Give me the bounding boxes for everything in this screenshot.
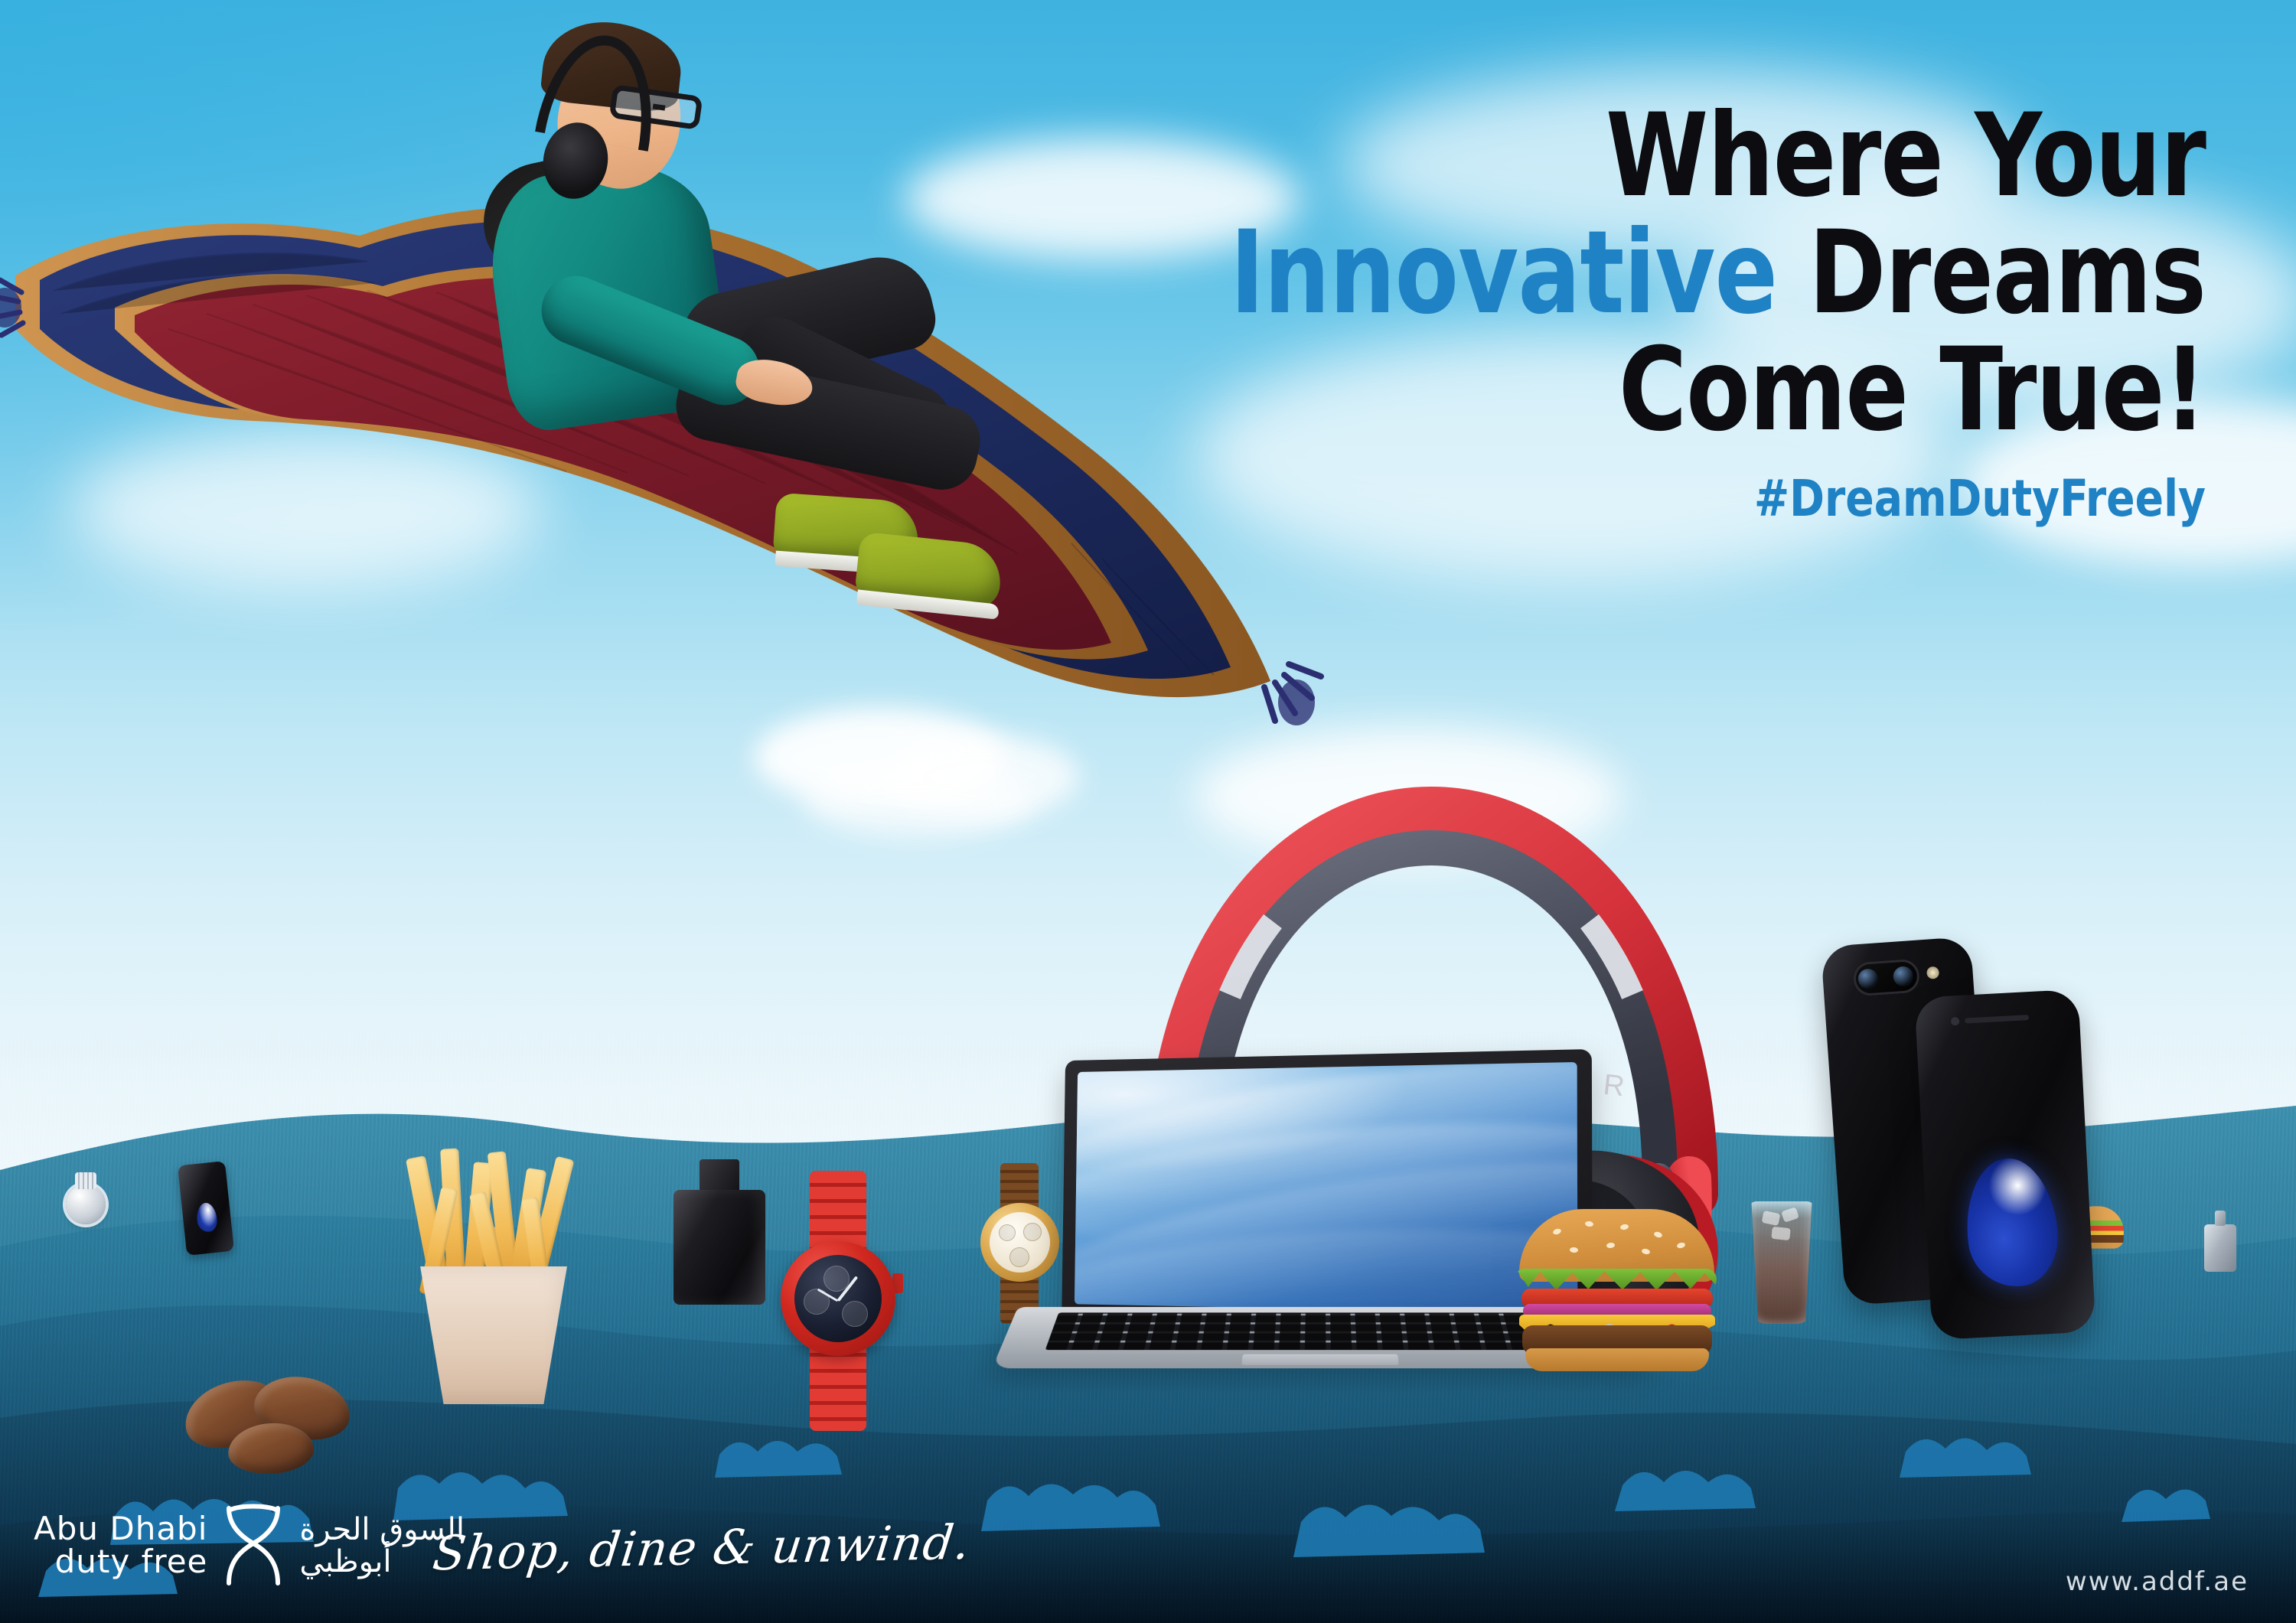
french-fries-cone: [383, 1152, 605, 1404]
carpet-tassel-left: [0, 280, 23, 335]
logo-english-line-1: Abu Dhabi: [34, 1513, 207, 1546]
laptop-trackpad[interactable]: [1241, 1354, 1398, 1365]
advertisement-poster: Where Your Innovative Dreams Come True! …: [0, 0, 2296, 1623]
website-url[interactable]: www.addf.ae: [2066, 1566, 2249, 1597]
front-camera-icon: [1951, 1017, 1960, 1026]
carpet-cloud-c: [804, 765, 1033, 839]
smartphone-distant: [178, 1161, 234, 1256]
burger-bottom-bun: [1525, 1348, 1709, 1371]
silver-perfume-distant: [2204, 1224, 2236, 1272]
headline-accent-word: Innovative: [1230, 207, 1777, 340]
perfume-body: [673, 1190, 765, 1305]
headline-block: Where Your Innovative Dreams Come True! …: [1058, 98, 2206, 528]
logo-english-line-2: duty free: [34, 1546, 207, 1579]
footer-bar: Abu Dhabi duty free السوق الحرة أبوظبي S…: [0, 1455, 2296, 1623]
red-chronograph-watch: [781, 1171, 895, 1431]
laptop-screen[interactable]: [1075, 1062, 1577, 1314]
camera-icon: [1852, 959, 1920, 997]
brand-logo[interactable]: Abu Dhabi duty free السوق الحرة أبوظبي: [34, 1504, 465, 1588]
addf-hourglass-mark: [218, 1504, 289, 1588]
watch-dial: [794, 1255, 882, 1342]
laptop-keyboard[interactable]: [1045, 1312, 1590, 1350]
laptop-lid: [1062, 1049, 1593, 1329]
watch-case: [781, 1241, 895, 1356]
cheeseburger: [1519, 1209, 1714, 1366]
iced-cola-glass: [1749, 1201, 1815, 1324]
campaign-hashtag: #DreamDutyFreely: [1138, 469, 2206, 528]
earpiece-speaker: [1965, 1015, 2029, 1023]
headline-line-2: Innovative Dreams: [1172, 215, 2206, 332]
black-perfume-bottle: [673, 1159, 765, 1305]
headline-line-2-rest: Dreams: [1777, 207, 2206, 340]
silver-watch-distant: [66, 1185, 106, 1224]
cola-liquid: [1749, 1201, 1815, 1324]
rider-shoe-right: [854, 531, 1004, 610]
carpet-rider: [429, 15, 1117, 627]
water-drop-wallpaper: [1958, 1153, 2064, 1292]
brand-tagline: Shop, dine & unwind.: [430, 1514, 974, 1582]
smartphone-pair: [1833, 941, 2108, 1339]
headline-line-1: Where Your: [1172, 98, 2206, 215]
flash-icon: [1926, 966, 1939, 979]
logo-english-text: Abu Dhabi duty free: [34, 1513, 207, 1579]
smartphone-front[interactable]: [1914, 989, 2095, 1341]
fries-paper-cone: [410, 1266, 577, 1404]
headline-line-3: Come True!: [1172, 332, 2206, 449]
